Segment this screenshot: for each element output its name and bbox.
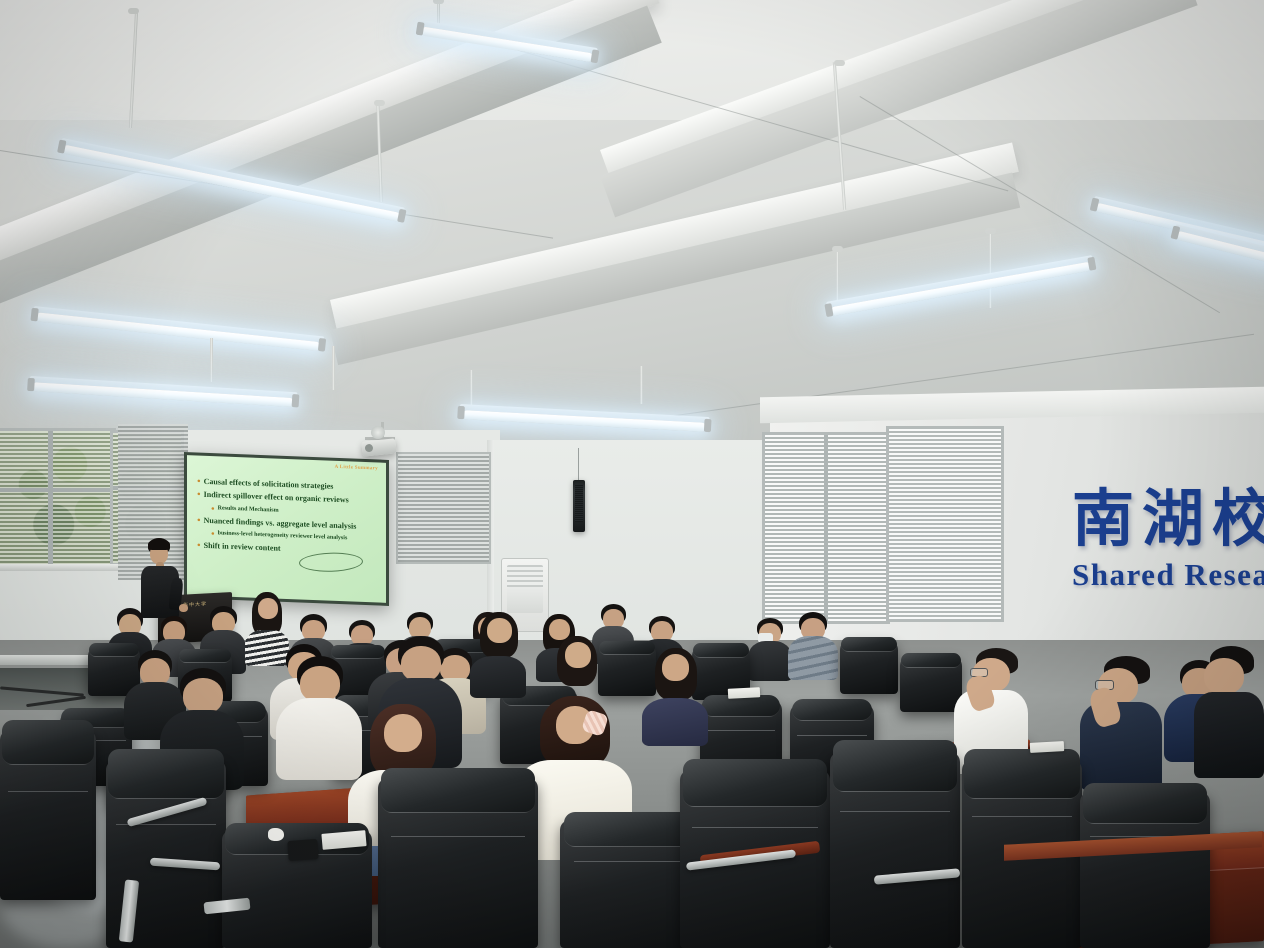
window-right-1 (762, 432, 890, 624)
lamp-rod-cap-6 (985, 228, 996, 234)
lamp-rod-8 (332, 346, 335, 390)
wall-sign: 南湖校区 Shared Researc (1072, 488, 1264, 593)
chair-right-lower-2 (1080, 792, 1210, 948)
attendee-mid-7 (642, 648, 708, 744)
wall-sign-chinese-text: 南湖校区 (1072, 488, 1264, 550)
slide-bullet-2-text: Indirect spillover effect on organic rev… (204, 491, 349, 505)
lamp-rod-cap-1 (433, 0, 444, 4)
window-center-back (396, 452, 491, 564)
wall-sign-english-text: Shared Researc (1072, 557, 1264, 593)
bullet-marker-icon: ● (197, 492, 201, 498)
tissue-on-desk (268, 828, 284, 841)
lamp-rod-cap-3 (374, 100, 385, 106)
bullet-marker-icon: ● (211, 531, 215, 537)
chair-back-8 (900, 656, 962, 712)
slide-bullet-4-text: Nuanced findings vs. aggregate level ana… (204, 517, 357, 531)
slide-bullet-list: ● Causal effects of solicitation strateg… (197, 478, 380, 563)
window-right-2 (886, 426, 1004, 622)
chair-front-center (378, 778, 538, 948)
chair-front-far-left (0, 730, 96, 900)
wall-back-center (490, 440, 780, 670)
presentation-slide: A Little Summary ● Causal effects of sol… (187, 455, 386, 603)
wall-speaker (573, 480, 585, 532)
slide-bullet-2: ● Indirect spillover effect on organic r… (197, 491, 380, 506)
paper-on-desk-right (1030, 741, 1064, 753)
bullet-marker-icon: ● (197, 479, 201, 485)
projector-lens-housing (371, 426, 385, 439)
lamp-rod-cap-5 (832, 246, 843, 252)
lamp-rod-6 (989, 230, 992, 308)
lamp-rod-10 (640, 366, 643, 404)
chair-front-right-2 (830, 752, 960, 948)
smartphone-on-desk (287, 839, 318, 861)
attendee-back-11 (788, 612, 838, 678)
lamp-rod-9 (470, 370, 473, 408)
seminar-room-photo: A Little Summary ● Causal effects of sol… (0, 0, 1264, 948)
lamp-rod-cap-4 (834, 60, 845, 66)
attendee-mid-5 (470, 612, 526, 696)
attendee-back-masked (748, 618, 792, 680)
slide-bullet-1-text: Causal effects of solicitation strategie… (204, 478, 334, 491)
paper-on-desk-back (728, 687, 760, 699)
projection-screen: A Little Summary ● Causal effects of sol… (184, 452, 389, 606)
window-left-far (0, 428, 116, 568)
slide-bullet-6-text: Shift in review content (204, 542, 281, 553)
presenter (138, 538, 184, 618)
slide-handdrawn-ellipse-annotation (298, 552, 363, 573)
slide-bullet-3-text: Results and Mechanism (218, 505, 279, 514)
attendee-right-navy-polo (1080, 656, 1162, 786)
chair-back-7 (840, 640, 898, 694)
bullet-marker-icon: ● (211, 506, 215, 512)
slide-bullet-4: ● Nuanced findings vs. aggregate level a… (197, 516, 380, 531)
slide-bullet-5-text: business-level heterogeneity reviewer le… (218, 531, 348, 542)
lamp-rod-cap-2 (128, 8, 139, 14)
bullet-marker-icon: ● (197, 543, 201, 549)
lamp-rod-7 (210, 338, 213, 382)
slide-header-text: A Little Summary (335, 465, 378, 472)
bullet-marker-icon: ● (197, 517, 201, 523)
attendee-right-dark-shirt (1194, 646, 1264, 774)
